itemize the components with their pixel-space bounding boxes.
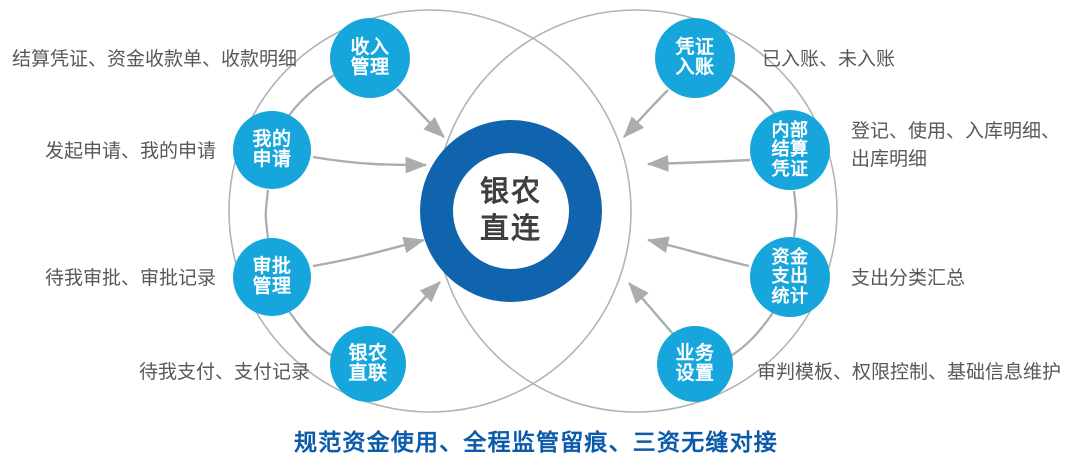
node-my-application[interactable]: 我的 申请	[233, 111, 311, 189]
label-internal-settlement: 登记、使用、入库明细、 出库明细	[851, 118, 1060, 173]
node-expenditure-statistics-line2: 支出	[772, 267, 809, 286]
arc-expenditure-to-business	[729, 311, 774, 357]
diagram-canvas: 银农 直连 收入 管理 我的 申请 审批 管理 银农 直联 凭证 入账 内部 结…	[0, 0, 1072, 471]
label-bank-direct-link-line1: 待我支付、支付记录	[0, 359, 310, 387]
label-voucher-entry: 已入账、未入账	[762, 46, 895, 74]
label-internal-settlement-line1: 登记、使用、入库明细、	[851, 118, 1060, 146]
node-approval-management-line2: 管理	[252, 277, 291, 297]
center-hub: 银农 直连	[420, 120, 602, 302]
node-bank-direct-link[interactable]: 银农 直联	[330, 326, 406, 402]
diagram-caption: 规范资金使用、全程监管留痕、三资无缝对接	[0, 423, 1072, 457]
center-hub-line1: 银农	[480, 174, 542, 211]
arrow-myapplication-to-center	[313, 157, 426, 165]
node-income-management-line2: 管理	[350, 58, 389, 78]
arrow-internal-to-center	[648, 160, 750, 164]
node-my-application-line1: 我的	[252, 130, 291, 150]
arrow-income-to-center	[397, 89, 444, 137]
label-bank-direct-link: 待我支付、支付记录	[0, 359, 310, 387]
arrow-business-to-center	[629, 283, 673, 334]
center-hub-line2: 直连	[480, 211, 542, 248]
node-expenditure-statistics[interactable]: 资金 支出 统计	[750, 237, 830, 317]
node-bank-direct-link-line2: 直联	[348, 364, 387, 384]
label-income-management: 结算凭证、资金收款单、收款明细	[0, 46, 297, 74]
node-income-management-line1: 收入	[350, 38, 389, 58]
label-approval-management: 待我审批、审批记录	[0, 265, 216, 293]
node-internal-settlement[interactable]: 内部 结算 凭证	[750, 110, 830, 190]
node-internal-settlement-line3: 凭证	[772, 160, 809, 179]
label-voucher-entry-line1: 已入账、未入账	[762, 46, 895, 74]
arc-myapplication-to-approval	[266, 190, 268, 238]
node-my-application-line2: 申请	[252, 150, 291, 170]
arrow-bankdirect-to-center	[392, 282, 440, 333]
node-expenditure-statistics-line3: 统计	[772, 287, 809, 306]
label-my-application: 发起申请、我的申请	[0, 138, 216, 166]
node-business-settings-line2: 设置	[675, 364, 714, 384]
node-expenditure-statistics-line1: 资金	[772, 248, 809, 267]
node-approval-management[interactable]: 审批 管理	[233, 238, 311, 316]
label-approval-management-line1: 待我审批、审批记录	[0, 265, 216, 293]
node-approval-management-line1: 审批	[252, 257, 291, 277]
node-business-settings[interactable]: 业务 设置	[657, 326, 733, 402]
node-voucher-entry-line2: 入账	[675, 58, 714, 78]
arrow-approval-to-center	[313, 240, 424, 266]
label-business-settings-line1: 审判模板、权限控制、基础信息维护	[757, 359, 1061, 387]
node-income-management[interactable]: 收入 管理	[330, 18, 410, 98]
node-business-settings-line1: 业务	[675, 344, 714, 364]
center-hub-inner: 银农 直连	[453, 153, 569, 269]
node-bank-direct-link-line1: 银农	[348, 344, 387, 364]
label-expenditure-statistics: 支出分类汇总	[851, 265, 965, 293]
label-expenditure-statistics-line1: 支出分类汇总	[851, 265, 965, 293]
node-voucher-entry-line1: 凭证	[675, 38, 714, 58]
label-internal-settlement-line2: 出库明细	[851, 146, 1060, 174]
node-voucher-entry[interactable]: 凭证 入账	[655, 18, 735, 98]
arc-internal-to-expenditure	[794, 191, 796, 237]
arrow-expenditure-to-center	[648, 240, 749, 266]
label-income-management-line1: 结算凭证、资金收款单、收款明细	[0, 46, 297, 74]
arc-approval-to-bankdirect	[288, 310, 334, 357]
label-business-settings: 审判模板、权限控制、基础信息维护	[757, 359, 1061, 387]
node-internal-settlement-line2: 结算	[772, 140, 809, 159]
label-my-application-line1: 发起申请、我的申请	[0, 138, 216, 166]
node-internal-settlement-line1: 内部	[772, 121, 809, 140]
arrow-voucher-to-center	[624, 90, 668, 137]
